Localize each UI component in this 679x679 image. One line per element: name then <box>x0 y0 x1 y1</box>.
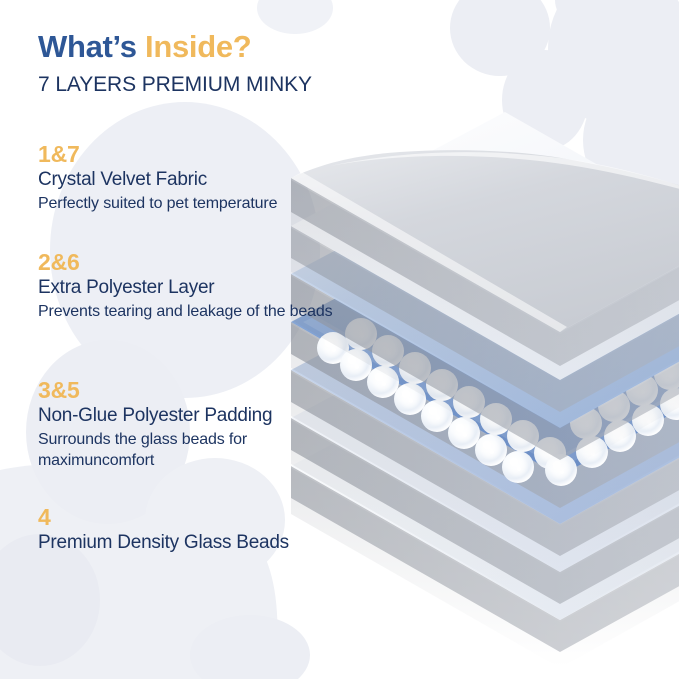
layer-entry-title: Crystal Velvet Fabric <box>38 169 368 191</box>
decor-blob-top-2 <box>548 0 679 128</box>
decor-blob-top-4 <box>502 50 588 150</box>
layer-entry-title: Premium Density Glass Beads <box>38 532 368 554</box>
decor-blob-top-5 <box>555 0 645 34</box>
layer-entry-number: 3&5 <box>38 378 368 402</box>
layer-entry-title: Non-Glue Polyester Padding <box>38 405 368 427</box>
page-title-accent: Inside? <box>145 29 251 64</box>
infographic-root: What’s Inside? 7 LAYERS PREMIUM MINKY 1&… <box>0 0 679 679</box>
layer-entry-number: 4 <box>38 505 368 529</box>
layer-entry-2-6: 2&6 Extra Polyester Layer Prevents teari… <box>38 250 368 322</box>
layer-entry-number: 1&7 <box>38 142 368 166</box>
page-subtitle: 7 LAYERS PREMIUM MINKY <box>38 72 378 97</box>
layer-entry-title: Extra Polyester Layer <box>38 277 368 299</box>
glass-bead-group-right <box>545 358 679 486</box>
layer-entry-1-7: 1&7 Crystal Velvet Fabric Perfectly suit… <box>38 142 368 214</box>
page-title-primary: What’s <box>38 29 137 64</box>
layer-entry-number: 2&6 <box>38 250 368 274</box>
header-block: What’s Inside? 7 LAYERS PREMIUM MINKY <box>38 30 378 97</box>
page-title: What’s Inside? <box>38 30 378 65</box>
layer-entry-4: 4 Premium Density Glass Beads <box>38 505 368 555</box>
layer-entry-description: Surrounds the glass beads for maximuncom… <box>38 429 338 471</box>
text-content-column: What’s Inside? 7 LAYERS PREMIUM MINKY 1&… <box>0 0 400 679</box>
layer-entry-3-5: 3&5 Non-Glue Polyester Padding Surrounds… <box>38 378 368 471</box>
layer-entry-description: Prevents tearing and leakage of the bead… <box>38 301 338 322</box>
decor-blob-top-3 <box>583 75 679 205</box>
layer-entry-description: Perfectly suited to pet temperature <box>38 193 338 214</box>
decor-blob-top-1 <box>450 0 550 76</box>
